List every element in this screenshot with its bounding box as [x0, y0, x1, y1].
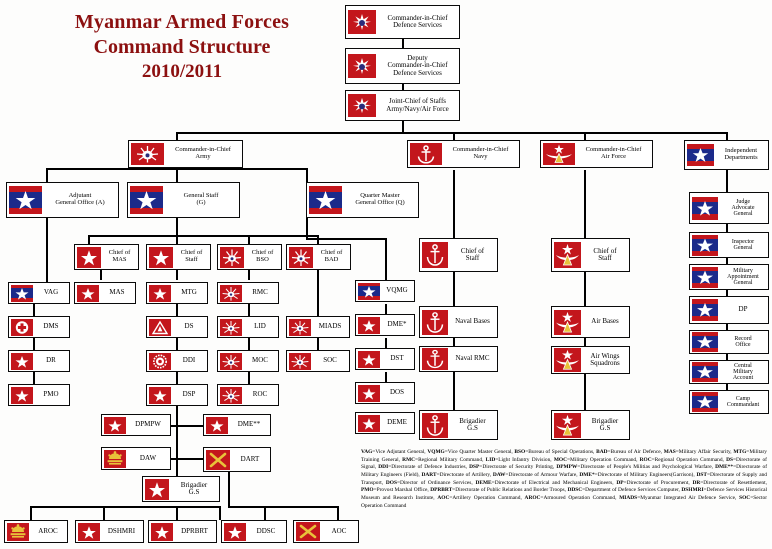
- blue-flag-icon: [687, 144, 714, 166]
- connector: [453, 372, 455, 410]
- legend-abbr: MOC: [554, 457, 567, 463]
- node-label: Inspector General: [718, 233, 768, 257]
- navy-anchor-icon: [422, 413, 448, 438]
- node-label: Air Wings Squadrons: [581, 347, 629, 373]
- legend-abbr: DSHMRI: [681, 487, 703, 493]
- legend-abbr: PMO: [361, 487, 374, 493]
- legend-definition: =Bureau of Special Operations,: [525, 449, 596, 455]
- legend-definition: =Directorate of Public Relations and Bor…: [452, 487, 567, 493]
- node-label: DDI: [171, 351, 207, 371]
- legend-abbr: DME*: [579, 472, 594, 478]
- node-judge-advocate-general[interactable]: Judge Advocate General: [689, 192, 769, 224]
- node-label: Chief of BAD: [313, 245, 350, 269]
- node-brigadier-gs-army[interactable]: Brigadier G.S: [142, 476, 220, 502]
- red-star-icon: [11, 353, 33, 370]
- node-label: Joint-Chief of Staffs Army/Navy/Air Forc…: [376, 91, 459, 120]
- connector: [453, 272, 455, 306]
- legend-abbr: MTG: [733, 449, 746, 455]
- node-label: DEME: [380, 413, 414, 433]
- blue-flag-icon: [9, 186, 42, 214]
- legend-definition: =Directorate of Military Engineers(Garri…: [595, 472, 697, 478]
- node-air-wings-squadrons[interactable]: Air Wings Squadrons: [551, 346, 630, 374]
- node-airforce-chief-of-staff[interactable]: Chief of Staff: [551, 238, 630, 272]
- legend-abbr: MAS: [664, 449, 676, 455]
- node-daw[interactable]: DAW: [101, 447, 171, 470]
- red-star-icon: [358, 415, 380, 432]
- legend-definition: =Vice Adjutant General,: [372, 449, 427, 455]
- node-cinc-defence-services[interactable]: Commander-in-Chief Defence Services: [345, 5, 460, 39]
- armour-crown-icon: [7, 523, 29, 541]
- node-cinc-air-force[interactable]: Commander-in-Chief Air Force: [540, 140, 653, 168]
- connector: [248, 338, 250, 350]
- node-label: VQMG: [380, 281, 414, 301]
- navy-anchor-icon: [422, 242, 448, 268]
- connector: [176, 168, 178, 182]
- node-chief-of-mas[interactable]: Chief of MAS: [74, 244, 139, 270]
- node-miads[interactable]: MIADS: [286, 316, 350, 338]
- connector: [228, 506, 338, 508]
- node-label: Brigadier G.S: [448, 411, 497, 439]
- connector: [453, 338, 455, 346]
- node-navy-chief-of-staff[interactable]: Chief of Staff: [419, 238, 498, 272]
- army-sunburst-icon: [220, 387, 242, 404]
- blue-flag-icon: [692, 362, 718, 382]
- node-dpmpw[interactable]: DPMPW: [101, 414, 171, 436]
- legend-definition: =Department of Defence Services Computer…: [582, 487, 681, 493]
- node-quarter-master-general-office[interactable]: Quarter Master General Office (Q): [306, 182, 419, 218]
- node-cinc-navy[interactable]: Commander-in-Chief Navy: [407, 140, 520, 168]
- legend-abbr: LID: [486, 457, 496, 463]
- signal-triangle-icon: [149, 319, 171, 336]
- node-navy-brigadier-gs[interactable]: Brigadier G.S: [419, 410, 498, 440]
- page-title: Myanmar Armed Forces Command Structure 2…: [22, 10, 342, 85]
- node-chief-of-staff-army[interactable]: Chief of Staff: [146, 244, 211, 270]
- node-naval-bases[interactable]: Naval Bases: [419, 306, 498, 338]
- node-chief-of-bso[interactable]: Chief of BSO: [217, 244, 282, 270]
- title-line-1: Myanmar Armed Forces: [22, 10, 342, 35]
- connector: [248, 235, 250, 244]
- connector: [103, 506, 105, 520]
- legend-definition: =Directorate of Defence Industries,: [388, 464, 469, 470]
- blue-flag-icon: [692, 332, 718, 352]
- node-adjutant-general-office[interactable]: Adjutant General Office (A): [6, 182, 119, 218]
- node-label: Commander-in-Chief Navy: [442, 141, 519, 167]
- legend-definition: =Directorate of Armour Warfare,: [505, 472, 579, 478]
- blue-flag-icon: [130, 186, 163, 214]
- connector: [176, 270, 178, 280]
- air-force-icon: [554, 413, 581, 438]
- connector: [33, 338, 35, 350]
- node-label: Quarter Master General Office (Q): [342, 183, 418, 217]
- legend-abbr: DME**: [715, 464, 733, 470]
- legend-abbr: DSP: [469, 464, 479, 470]
- legend-abbr: BAD: [596, 449, 607, 455]
- node-moc[interactable]: MOC: [217, 350, 279, 372]
- node-joint-chief-of-staffs[interactable]: Joint-Chief of Staffs Army/Navy/Air Forc…: [345, 90, 460, 121]
- air-force-icon: [554, 348, 581, 372]
- node-camp-commandant[interactable]: Camp Commandant: [689, 390, 769, 414]
- legend-abbr: DPRBRT: [430, 487, 452, 493]
- node-central-military-account[interactable]: Central Military Account: [689, 360, 769, 384]
- red-star-icon: [77, 247, 101, 268]
- blue-flag-icon: [309, 186, 342, 214]
- node-label: MTG: [171, 283, 207, 303]
- red-star-icon: [358, 351, 380, 368]
- legend-abbr: DP: [616, 480, 623, 486]
- legend-abbr: DOS: [386, 480, 397, 486]
- connector: [306, 218, 308, 238]
- blue-flag-icon: [11, 285, 33, 302]
- node-label: VAG: [33, 283, 69, 303]
- legend-abbr: RMC: [402, 457, 415, 463]
- node-label: MAS: [99, 283, 135, 303]
- node-label: Chief of Staff: [448, 239, 497, 271]
- node-label: DOS: [380, 383, 414, 403]
- connector: [176, 235, 178, 244]
- node-label: MIADS: [311, 317, 349, 337]
- red-star-icon: [149, 247, 173, 268]
- legend-abbr: VAG: [361, 449, 372, 455]
- node-vag[interactable]: VAG: [8, 282, 70, 304]
- node-label: Record Office: [718, 331, 768, 353]
- connector: [584, 170, 586, 238]
- node-label: Air Bases: [581, 307, 629, 337]
- node-label: Judge Advocate General: [718, 193, 768, 223]
- node-label: ROC: [242, 385, 278, 405]
- army-sunburst-icon: [348, 54, 376, 78]
- legend-abbr: DART: [421, 472, 436, 478]
- connector: [176, 132, 728, 134]
- node-label: Camp Commandant: [718, 391, 768, 413]
- connector: [33, 372, 35, 384]
- node-ddi[interactable]: DDI: [146, 350, 208, 372]
- node-dme-garrison[interactable]: DME*: [355, 314, 415, 336]
- red-star-icon: [149, 387, 171, 404]
- node-soc[interactable]: SOC: [286, 350, 350, 372]
- air-force-icon: [554, 242, 581, 268]
- legend-definition: =Artillery Operation Command,: [449, 495, 524, 501]
- connector: [46, 168, 48, 182]
- legend-abbr: ROC: [640, 457, 652, 463]
- connector: [176, 218, 178, 236]
- air-force-icon: [543, 143, 575, 165]
- node-dp[interactable]: DP: [689, 296, 769, 324]
- legend-definition: =Myanmar Integrated Air Defence Service,: [637, 495, 739, 501]
- node-label: Chief of BSO: [244, 245, 281, 269]
- connector: [306, 238, 386, 240]
- red-star-icon: [11, 387, 33, 404]
- node-label: Chief of Staff: [173, 245, 210, 269]
- army-sunburst-icon: [348, 10, 376, 34]
- node-military-appointment-general[interactable]: Military Appointment General: [689, 264, 769, 290]
- red-star-icon: [358, 385, 380, 402]
- node-label: DART: [230, 448, 270, 471]
- node-label: DS: [171, 317, 207, 337]
- node-rmc[interactable]: RMC: [217, 282, 279, 304]
- node-dos[interactable]: DOS: [355, 382, 415, 404]
- connector: [100, 270, 102, 280]
- node-label: Independent Departments: [714, 141, 768, 169]
- node-label: Commander-in-Chief Army: [164, 141, 242, 167]
- connector: [584, 372, 586, 410]
- node-deputy-cinc-defence-services[interactable]: Deputy Commander-in-Chief Defence Servic…: [345, 48, 460, 84]
- army-sunburst-icon: [220, 353, 242, 370]
- red-star-icon: [151, 523, 173, 541]
- node-label: DPMPW: [126, 415, 170, 435]
- blue-flag-icon: [692, 267, 718, 288]
- node-label: SOC: [311, 351, 349, 371]
- node-label: Naval RMC: [448, 347, 497, 371]
- node-air-bases[interactable]: Air Bases: [551, 306, 630, 338]
- red-star-icon: [206, 417, 228, 434]
- node-inspector-general[interactable]: Inspector General: [689, 232, 769, 258]
- army-sunburst-icon: [289, 353, 311, 370]
- node-label: DP: [718, 297, 768, 323]
- red-star-icon: [145, 479, 169, 500]
- red-star-icon: [77, 285, 99, 302]
- legend-definition: =Regional Operation Command,: [652, 457, 726, 463]
- node-label: DDSC: [246, 521, 286, 542]
- node-label: Central Military Account: [718, 361, 768, 383]
- connector: [584, 272, 586, 306]
- legend-definition: =Directorate of Procurement,: [624, 480, 693, 486]
- connector: [30, 506, 32, 520]
- node-label: DSP: [171, 385, 207, 405]
- title-line-3: 2010/2011: [22, 60, 342, 85]
- node-label: Military Appointment General: [718, 265, 768, 289]
- node-label: DAW: [126, 448, 170, 469]
- node-record-office[interactable]: Record Office: [689, 330, 769, 354]
- node-label: Commander-in-Chief Air Force: [575, 141, 652, 167]
- abbreviation-legend: VAG=Vice Adjutant General, VQMG=Vice Qua…: [361, 449, 767, 510]
- connector: [317, 338, 319, 350]
- node-ds[interactable]: DS: [146, 316, 208, 338]
- legend-definition: =Director of Ordinance Services,: [397, 480, 476, 486]
- crossed-cannons-icon: [206, 450, 230, 470]
- node-label: LID: [242, 317, 278, 337]
- node-lid[interactable]: LID: [217, 316, 279, 338]
- legend-abbr: AOC: [437, 495, 449, 501]
- node-dart[interactable]: DART: [203, 447, 271, 472]
- connector: [264, 506, 266, 520]
- legend-abbr: DDSC: [567, 487, 582, 493]
- red-star-icon: [104, 417, 126, 434]
- node-deme[interactable]: DEME: [355, 412, 415, 434]
- red-star-icon: [358, 317, 380, 334]
- legend-definition: =Directorate of Electrical and Mechanica…: [492, 480, 617, 486]
- connector: [248, 270, 250, 280]
- connector: [30, 506, 220, 508]
- node-label: DME**: [228, 415, 270, 435]
- gear-icon: [149, 353, 171, 370]
- legend-definition: =Armoured Operation Command,: [540, 495, 619, 501]
- node-label: PMO: [33, 385, 69, 405]
- legend-abbr: DST: [696, 472, 707, 478]
- legend-definition: =Directorate of People's Militias and Ps…: [577, 464, 715, 470]
- connector: [176, 425, 204, 427]
- node-label: Chief of Staff: [581, 239, 629, 271]
- legend-abbr: DS: [726, 457, 733, 463]
- connector: [219, 506, 221, 520]
- connector: [176, 304, 178, 316]
- node-label: Brigadier G.S: [169, 477, 219, 501]
- node-aoc[interactable]: AOC: [293, 520, 359, 543]
- legend-definition: =Vice Quarter Master General,: [445, 449, 515, 455]
- node-label: AROC: [29, 521, 67, 542]
- node-naval-rmc[interactable]: Naval RMC: [419, 346, 498, 372]
- legend-abbr: AROC: [525, 495, 541, 501]
- blue-flag-icon: [358, 283, 380, 300]
- armour-crown-icon: [104, 450, 126, 468]
- node-vqmg[interactable]: VQMG: [355, 280, 415, 302]
- army-sunburst-icon: [289, 247, 313, 268]
- blue-flag-icon: [692, 392, 718, 412]
- node-general-staff[interactable]: General Staff (G): [127, 182, 240, 218]
- node-roc[interactable]: ROC: [217, 384, 279, 406]
- node-label: DST: [380, 349, 414, 369]
- node-airforce-brigadier-gs[interactable]: Brigadier G.S: [551, 410, 630, 440]
- node-label: DME*: [380, 315, 414, 335]
- node-label: DSHMRI: [100, 521, 143, 542]
- army-sunburst-icon: [220, 247, 244, 268]
- connector: [248, 372, 250, 384]
- node-dprbrt[interactable]: DPRBRT: [148, 520, 217, 543]
- air-force-icon: [554, 310, 581, 335]
- legend-definition: =Regional Military Command,: [415, 457, 486, 463]
- node-label: RMC: [242, 283, 278, 303]
- legend-abbr: SOC: [739, 495, 750, 501]
- node-dst[interactable]: DST: [355, 348, 415, 370]
- connector: [726, 170, 728, 192]
- legend-definition: =Bureau of Air Defence,: [608, 449, 664, 455]
- node-label: Naval Bases: [448, 307, 497, 337]
- node-label: AOC: [320, 521, 358, 542]
- army-sunburst-icon: [289, 319, 311, 336]
- node-label: General Staff (G): [163, 183, 239, 217]
- connector: [88, 235, 318, 237]
- legend-abbr: DEME: [475, 480, 491, 486]
- medical-cross-icon: [11, 319, 33, 336]
- connector: [176, 406, 178, 476]
- army-sunburst-icon: [348, 94, 376, 117]
- node-ddsc[interactable]: DDSC: [221, 520, 287, 543]
- node-independent-departments[interactable]: Independent Departments: [684, 140, 769, 170]
- connector: [176, 458, 204, 460]
- connector: [176, 338, 178, 350]
- node-label: Chief of MAS: [101, 245, 138, 269]
- node-label: DMS: [33, 317, 69, 337]
- node-label: Adjutant General Office (A): [42, 183, 118, 217]
- navy-anchor-icon: [410, 143, 442, 165]
- army-sunburst-icon: [220, 285, 242, 302]
- navy-anchor-icon: [422, 348, 448, 370]
- army-sunburst-icon: [131, 143, 164, 165]
- army-sunburst-icon: [220, 319, 242, 336]
- connector: [176, 506, 178, 520]
- connector: [726, 224, 728, 232]
- node-label: Brigadier G.S: [581, 411, 629, 439]
- node-dr[interactable]: DR: [8, 350, 70, 372]
- blue-flag-icon: [692, 235, 718, 256]
- node-dme-field[interactable]: DME**: [203, 414, 271, 436]
- node-label: DPRBRT: [173, 521, 216, 542]
- node-dshmri[interactable]: DSHMRI: [75, 520, 144, 543]
- node-aroc[interactable]: AROC: [4, 520, 68, 543]
- connector: [46, 218, 48, 282]
- connector: [88, 235, 90, 244]
- connector: [453, 170, 455, 238]
- connector: [248, 304, 250, 316]
- blue-flag-icon: [692, 197, 718, 220]
- node-label: Deputy Commander-in-Chief Defence Servic…: [376, 49, 459, 83]
- red-star-icon: [78, 523, 100, 541]
- legend-abbr: MIADS: [619, 495, 637, 501]
- legend-definition: =Provost Marshal Office,: [374, 487, 431, 493]
- connector: [385, 238, 387, 280]
- legend-definition: =Directorate of Artillery,: [437, 472, 493, 478]
- connector: [228, 472, 230, 508]
- node-dsp[interactable]: DSP: [146, 384, 208, 406]
- navy-anchor-icon: [422, 310, 448, 335]
- crossed-cannons-icon: [296, 522, 320, 541]
- connector: [33, 304, 35, 316]
- connector: [176, 372, 178, 384]
- node-chief-of-bad[interactable]: Chief of BAD: [286, 244, 351, 270]
- legend-definition: =Military Operation Command,: [567, 457, 640, 463]
- title-line-2: Command Structure: [22, 35, 342, 60]
- connector: [306, 168, 308, 182]
- legend-definition: =Directorate of Security Printing,: [479, 464, 556, 470]
- legend-abbr: DAW: [493, 472, 506, 478]
- red-star-icon: [149, 285, 171, 302]
- legend-abbr: BSO: [514, 449, 525, 455]
- node-label: DR: [33, 351, 69, 371]
- legend-definition: =Military Affair Security,: [676, 449, 734, 455]
- blue-flag-icon: [692, 299, 718, 321]
- node-cinc-army[interactable]: Commander-in-Chief Army: [128, 140, 243, 168]
- connector: [337, 506, 339, 520]
- legend-definition: =Directorate of Resettlement,: [700, 480, 767, 486]
- connector: [317, 270, 319, 316]
- connector: [584, 338, 586, 346]
- legend-abbr: DPMPW: [556, 464, 577, 470]
- node-label: Commander-in-Chief Defence Services: [376, 6, 459, 38]
- legend-definition: =Light Infantry Division,: [495, 457, 554, 463]
- node-pmo[interactable]: PMO: [8, 384, 70, 406]
- node-mtg[interactable]: MTG: [146, 282, 208, 304]
- red-star-icon: [224, 523, 246, 541]
- legend-abbr: VQMG: [427, 449, 444, 455]
- node-mas[interactable]: MAS: [74, 282, 136, 304]
- legend-abbr: DDI: [378, 464, 388, 470]
- org-chart-canvas: Myanmar Armed Forces Command Structure 2…: [0, 0, 772, 549]
- node-dms[interactable]: DMS: [8, 316, 70, 338]
- node-label: MOC: [242, 351, 278, 371]
